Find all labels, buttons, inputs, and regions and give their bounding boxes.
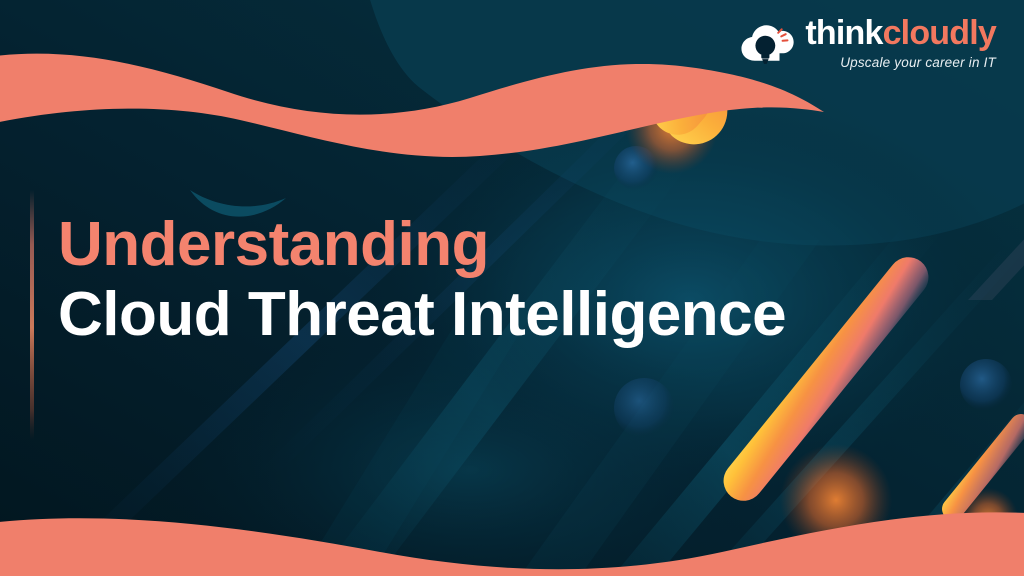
right-edge-faint-streak xyxy=(968,222,1024,300)
top-comet-body xyxy=(660,70,727,144)
logo-wordmark-cloudly: cloudly xyxy=(883,14,996,52)
logo-wordmark: thinkcloudly xyxy=(805,16,996,50)
blue-dot-right xyxy=(960,359,1012,411)
top-comet-tail xyxy=(641,65,721,146)
slide-canvas: Understanding Cloud Threat Intelligence … xyxy=(0,0,1024,576)
logo-wordmark-think: think xyxy=(805,14,882,52)
blue-dot-upper xyxy=(614,146,658,190)
teal-glow-lower xyxy=(170,320,770,576)
top-comet-glow xyxy=(626,82,718,174)
bottom-comet-glow-large xyxy=(780,444,892,556)
page-title-line-1: Understanding xyxy=(58,212,786,278)
bottom-comet-small xyxy=(938,410,1024,525)
logo-text: thinkcloudly Upscale your career in IT xyxy=(805,16,996,70)
page-title-line-2: Cloud Threat Intelligence xyxy=(58,278,786,351)
top-coral-wave xyxy=(0,54,824,157)
title-block: Understanding Cloud Threat Intelligence xyxy=(58,212,786,351)
cloud-lightbulb-icon xyxy=(741,20,795,66)
bottom-comet-glow-small xyxy=(958,488,1018,548)
blue-dot-center xyxy=(614,378,674,438)
logo-tagline: Upscale your career in IT xyxy=(840,56,996,70)
brand-logo[interactable]: thinkcloudly Upscale your career in IT xyxy=(741,16,996,70)
bottom-coral-wave xyxy=(0,512,1024,576)
vertical-coral-streak xyxy=(30,190,34,440)
